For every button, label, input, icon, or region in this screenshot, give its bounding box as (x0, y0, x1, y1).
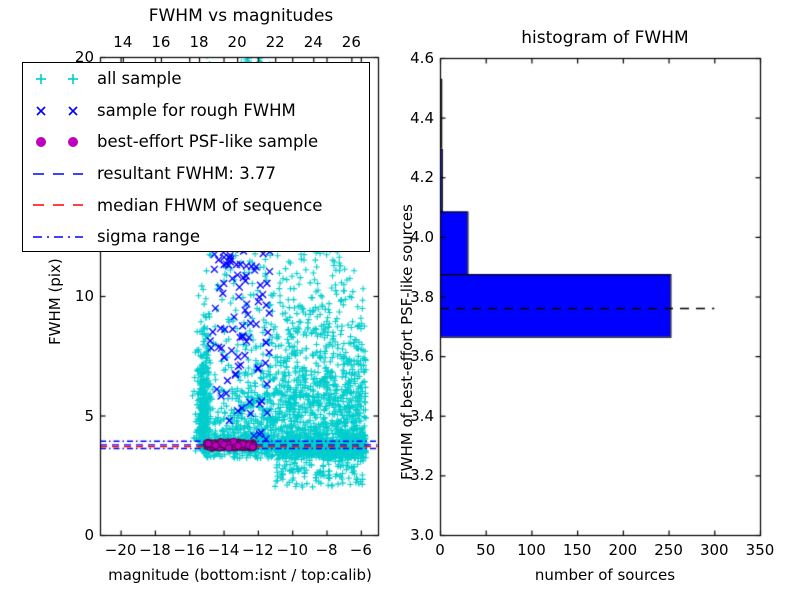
scatter-ytick-label: 20 (75, 50, 94, 65)
histogram-xtick-label: 100 (517, 543, 546, 558)
scatter-top-xtick-label: 14 (113, 35, 132, 50)
dashed-line-icon (23, 189, 97, 221)
scatter-ytick-label: 0 (84, 528, 94, 543)
cross-marker-icon (23, 95, 97, 127)
histogram-ytick-label: 4.0 (410, 230, 434, 245)
histogram-xtick-label: 50 (476, 543, 495, 558)
scatter-xtick-label: −12 (242, 543, 274, 558)
scatter-xtick-label: −8 (315, 543, 337, 558)
legend-item-psf-like: best-effort PSF-like sample (23, 126, 369, 158)
legend-item-all-sample: all sample (23, 63, 369, 95)
scatter-xtick-label: −20 (105, 543, 137, 558)
legend: all sample sample for rough FWHM b (22, 62, 370, 252)
histogram-ytick-label: 3.6 (410, 349, 434, 364)
scatter-top-xtick-label: 22 (266, 35, 285, 50)
plus-marker-icon (23, 63, 97, 95)
legend-item-sigma-range: sigma range (23, 221, 369, 253)
histogram-xtick-label: 0 (435, 543, 445, 558)
legend-label: sigma range (97, 227, 200, 246)
figure-root: FWHM vs magnitudes histogram of FWHM mag… (0, 0, 800, 600)
scatter-xlabel: magnitude (bottom:isnt / top:calib) (100, 568, 380, 583)
legend-label: sample for rough FWHM (97, 101, 296, 120)
scatter-ylabel: FWHM (pix) (48, 258, 63, 345)
scatter-xtick-label: −6 (350, 543, 372, 558)
scatter-top-xtick-label: 18 (189, 35, 208, 50)
scatter-top-xtick-label: 20 (228, 35, 247, 50)
histogram-xtick-label: 150 (563, 543, 592, 558)
legend-item-resultant-fwhm: resultant FWHM: 3.77 (23, 158, 369, 190)
legend-label: all sample (97, 69, 182, 88)
legend-label: median FHWM of sequence (97, 196, 322, 215)
histogram-xlabel: number of sources (480, 568, 730, 583)
histogram-ytick-label: 4.4 (410, 111, 434, 126)
dot-marker-icon (23, 126, 97, 158)
scatter-xtick-label: −14 (208, 543, 240, 558)
scatter-top-xtick-label: 16 (151, 35, 170, 50)
scatter-xtick-label: −18 (139, 543, 171, 558)
legend-label: resultant FWHM: 3.77 (97, 164, 276, 183)
histogram-title: histogram of FWHM (480, 30, 730, 47)
histogram-ytick-label: 4.6 (410, 51, 434, 66)
histogram-ytick-label: 3.0 (410, 528, 434, 543)
histogram-xtick-label: 200 (609, 543, 638, 558)
scatter-ytick-label: 5 (84, 409, 94, 424)
histogram-ytick-label: 4.2 (410, 170, 434, 185)
legend-item-median-fhwm: median FHWM of sequence (23, 189, 369, 221)
histogram-xtick-label: 250 (654, 543, 683, 558)
scatter-ytick-label: 10 (75, 289, 94, 304)
legend-item-rough-fwhm: sample for rough FWHM (23, 95, 369, 127)
histogram-xtick-label: 300 (700, 543, 729, 558)
scatter-xtick-label: −10 (276, 543, 308, 558)
dashed-line-icon (23, 158, 97, 190)
legend-label: best-effort PSF-like sample (97, 132, 318, 151)
dashdot-line-icon (23, 221, 97, 253)
histogram-ytick-label: 3.8 (410, 290, 434, 305)
histogram-xtick-label: 350 (746, 543, 775, 558)
scatter-xtick-label: −16 (173, 543, 205, 558)
histogram-ytick-label: 3.2 (410, 468, 434, 483)
scatter-top-xtick-label: 24 (304, 35, 323, 50)
scatter-top-xtick-label: 26 (342, 35, 361, 50)
scatter-title: FWHM vs magnitudes (106, 8, 376, 25)
histogram-ytick-label: 3.4 (410, 409, 434, 424)
